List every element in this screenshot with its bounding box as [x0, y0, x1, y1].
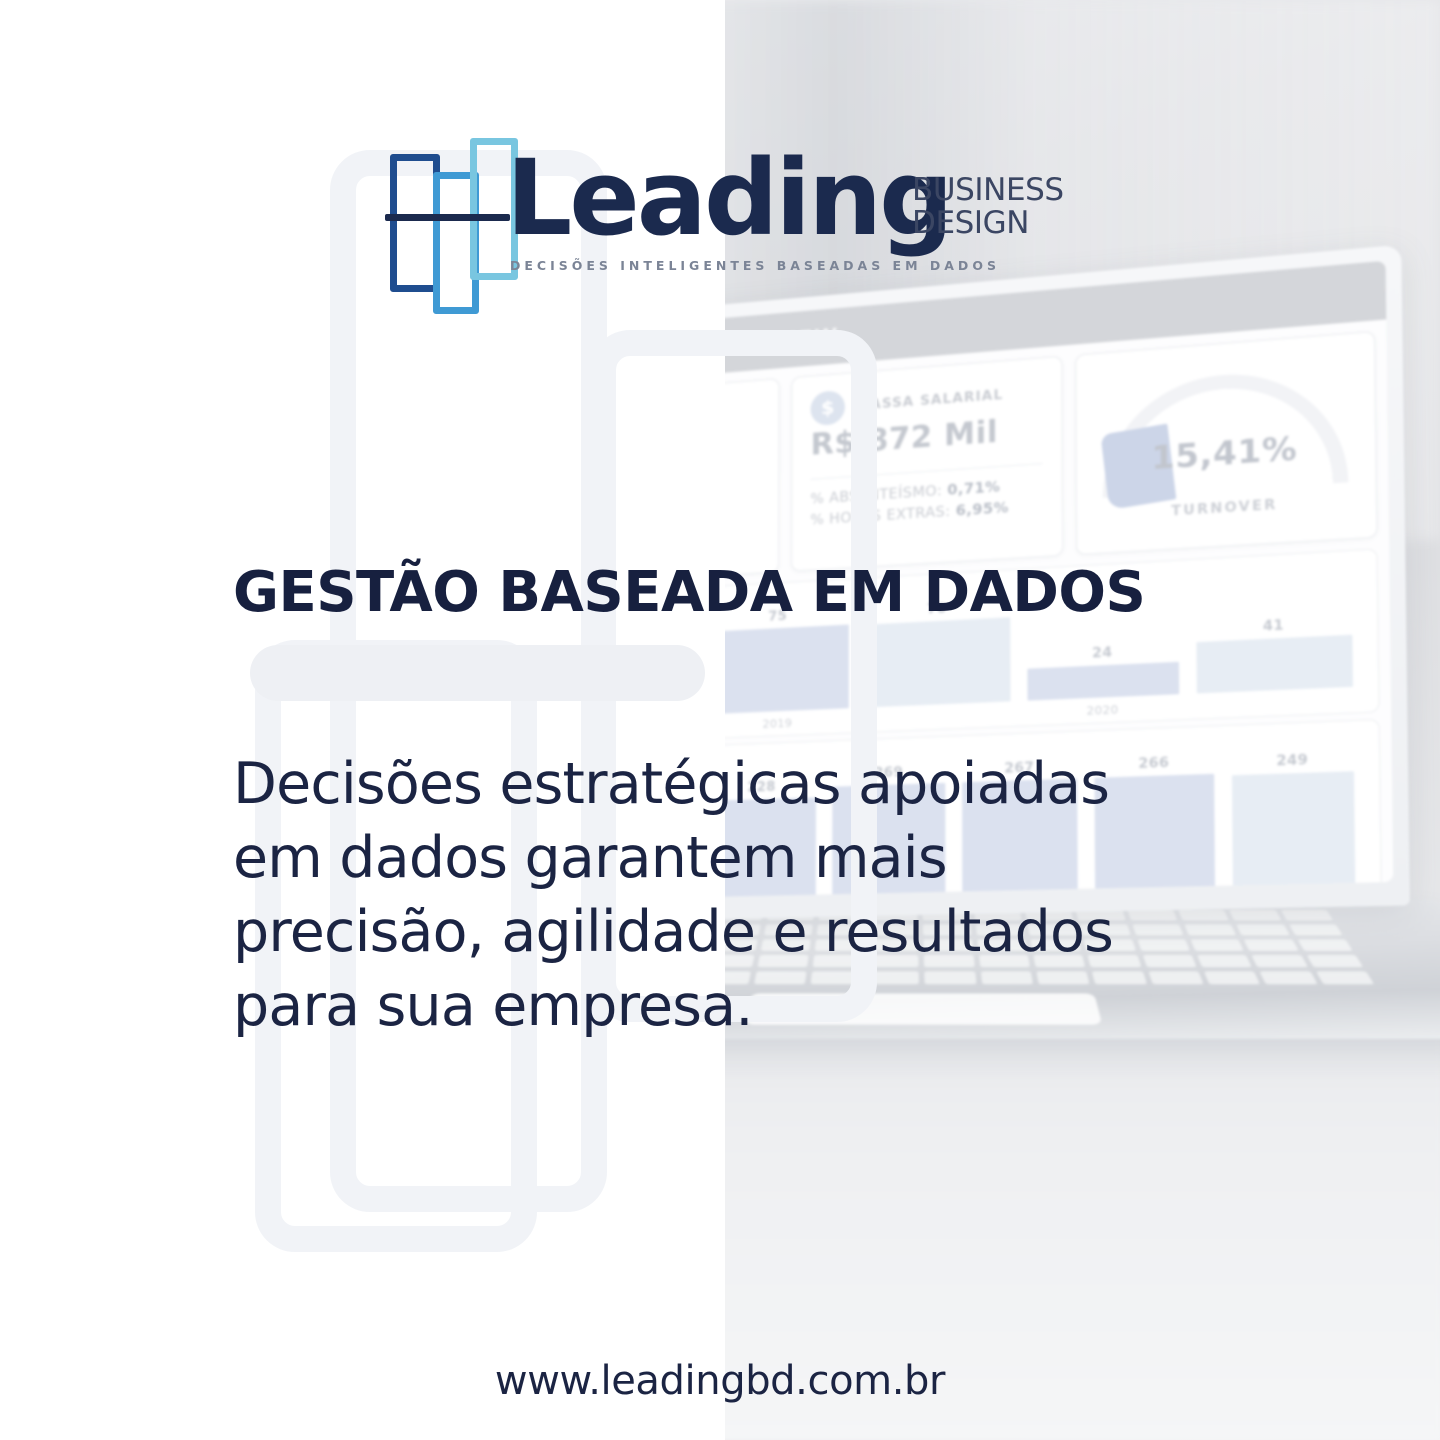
bar: [708, 625, 849, 715]
key: [1289, 924, 1344, 936]
kpi-row: $ MASSA SALARIAL R$ 872 Mil % ABSENTEÍSM…: [685, 331, 1377, 578]
key: [1316, 971, 1375, 985]
bar-tick-label: 2020: [1277, 896, 1311, 898]
key: [1229, 910, 1282, 921]
brand-logo: Leading BUSINESS DESIGN DECISÕES INTELIG…: [388, 136, 1088, 296]
logo-crossline-icon: [385, 214, 510, 221]
key: [1306, 955, 1364, 968]
kpi-card-turnover-gauge: 15,41% TURNOVER: [1075, 331, 1377, 555]
kpi-label: MASSA SALARIAL: [856, 387, 1003, 413]
key: [1252, 955, 1309, 968]
social-media-post: OVERVIEW $ MASSA SALARIAL R$ 872 Mil: [0, 0, 1440, 1440]
bar: [1196, 635, 1353, 694]
bar: [1027, 662, 1178, 700]
bar-column: 249 2020: [1231, 749, 1355, 891]
gauge-value: 15,41%: [1151, 430, 1297, 477]
logo-secondary-line1: BUSINESS: [912, 174, 1064, 207]
kpi-sub-value: 0,71%: [947, 479, 1000, 499]
body-paragraph: Decisões estratégicas apoiadas em dados …: [233, 747, 1193, 1043]
kpi-card-massa-salarial: $ MASSA SALARIAL R$ 872 Mil % ABSENTEÍSM…: [791, 356, 1063, 572]
logo-secondary-line2: DESIGN: [912, 207, 1064, 240]
kpi-sub-value: 6,95%: [956, 500, 1009, 520]
key: [1297, 939, 1353, 951]
bar-tick-label: 2019: [762, 717, 792, 731]
kpi-sub-label: % ABSENTEÍSMO:: [810, 483, 942, 508]
key: [1190, 939, 1244, 951]
logo-tagline: DECISÕES INTELIGENTES BASEADAS EM DADOS: [510, 258, 1000, 273]
website-url: www.leadingbd.com.br: [0, 1358, 1440, 1404]
bar-value: 41: [1263, 618, 1284, 635]
bar-tick-label: 2020: [1086, 703, 1118, 718]
bar-column: 41: [1195, 578, 1353, 693]
logo-wordmark: Leading: [506, 146, 951, 250]
bar: [865, 618, 1011, 708]
bar-value: 24: [1092, 646, 1112, 662]
divider: [810, 463, 1042, 480]
bar: [1232, 771, 1356, 891]
key: [1260, 971, 1318, 985]
logo-mark-icon: [388, 136, 508, 296]
dollar-icon: $: [811, 390, 845, 426]
logo-secondary-text: BUSINESS DESIGN: [912, 174, 1064, 241]
key: [1197, 955, 1253, 968]
kpi-sub-label: % HORAS EXTRAS:: [810, 504, 950, 529]
key: [1244, 939, 1299, 951]
key: [1236, 924, 1290, 936]
page-title: GESTÃO BASEADA EM DADOS: [233, 560, 1145, 625]
bar-value: 249: [1276, 752, 1308, 769]
key: [1204, 971, 1261, 985]
key: [1280, 910, 1333, 921]
